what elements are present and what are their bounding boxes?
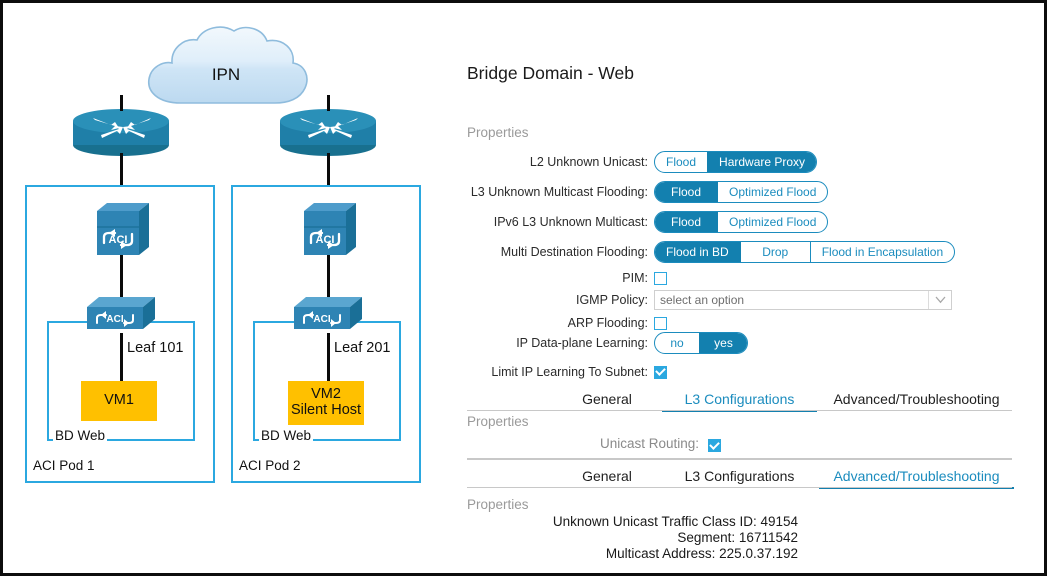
label-limit-ip-learning-to-subnet: Limit IP Learning To Subnet: bbox=[458, 361, 648, 383]
link-spine2-leaf2 bbox=[327, 255, 330, 297]
select-igmp-policy-value: select an option bbox=[655, 293, 928, 307]
toggle-option-flood-in-bd[interactable]: Flood in BD bbox=[655, 242, 740, 262]
tab-general-2-label: General bbox=[582, 468, 632, 484]
toggle-multi-destination-flooding[interactable]: Flood in BD Drop Flood in Encapsulation bbox=[654, 241, 955, 263]
label-l2-unknown-unicast: L2 Unknown Unicast: bbox=[458, 151, 648, 173]
checkbox-arp-flooding[interactable] bbox=[654, 317, 667, 330]
aci-pod-1-label: ACI Pod 1 bbox=[33, 458, 95, 473]
ipn-cloud-label: IPN bbox=[141, 65, 311, 85]
vm2-label: VM2 bbox=[311, 387, 341, 403]
properties-heading-advanced: Properties bbox=[467, 497, 529, 512]
row-ip-dataplane-learning: IP Data-plane Learning: no yes bbox=[458, 332, 1018, 354]
screenshot-frame: IPN bbox=[0, 0, 1047, 576]
label-arp-flooding: ARP Flooding: bbox=[458, 312, 648, 334]
toggle-option-flood[interactable]: Flood bbox=[655, 212, 717, 232]
row-multi-destination-flooding: Multi Destination Flooding: Flood in BD … bbox=[458, 241, 1018, 263]
tab-general-2[interactable]: General bbox=[552, 468, 662, 484]
label-l3-unknown-multicast-flooding: L3 Unknown Multicast Flooding: bbox=[458, 181, 648, 203]
segment-value: Segment: 16711542 bbox=[458, 530, 798, 545]
tab-advanced-troubleshooting-2-label: Advanced/Troubleshooting bbox=[833, 468, 999, 484]
row-igmp-policy: IGMP Policy: select an option bbox=[458, 289, 1018, 311]
svg-text:ACI: ACI bbox=[106, 314, 123, 325]
svg-text:ACI: ACI bbox=[313, 314, 330, 325]
row-ipv6-l3-unknown-multicast: IPv6 L3 Unknown Multicast: Flood Optimiz… bbox=[458, 211, 1018, 233]
tab-l3-configurations[interactable]: L3 Configurations bbox=[662, 391, 817, 407]
unknown-unicast-traffic-class-id: Unknown Unicast Traffic Class ID: 49154 bbox=[458, 514, 798, 529]
tabbar-rule bbox=[467, 487, 1012, 489]
spine-switch-pod2: ACI bbox=[298, 201, 358, 257]
row-pim: PIM: bbox=[458, 267, 1018, 289]
aci-pod-2-label: ACI Pod 2 bbox=[239, 458, 301, 473]
aci-multipod-diagram: IPN bbox=[3, 3, 455, 573]
properties-heading-main: Properties bbox=[467, 125, 529, 140]
toggle-l2-unknown-unicast[interactable]: Flood Hardware Proxy bbox=[654, 151, 817, 173]
label-multi-destination-flooding: Multi Destination Flooding: bbox=[458, 241, 648, 263]
toggle-option-yes[interactable]: yes bbox=[699, 333, 747, 353]
chevron-down-icon[interactable] bbox=[928, 291, 951, 309]
checkbox-unicast-routing[interactable] bbox=[708, 439, 721, 452]
toggle-option-optimized-flood[interactable]: Optimized Flood bbox=[717, 182, 827, 202]
tabbar-l3-configurations: General L3 Configurations Advanced/Troub… bbox=[467, 381, 1012, 411]
ipn-cloud: IPN bbox=[141, 25, 311, 107]
toggle-option-flood-in-encapsulation[interactable]: Flood in Encapsulation bbox=[810, 242, 954, 262]
label-unicast-routing: Unicast Routing: bbox=[600, 436, 699, 451]
vm1-box: VM1 bbox=[81, 381, 157, 421]
bd-web-pod1-label: BD Web bbox=[53, 428, 107, 443]
vm1-label: VM1 bbox=[104, 393, 134, 409]
leaf-101-label: Leaf 101 bbox=[127, 340, 183, 356]
toggle-option-optimized-flood[interactable]: Optimized Flood bbox=[717, 212, 827, 232]
toggle-option-hardware-proxy[interactable]: Hardware Proxy bbox=[707, 152, 816, 172]
leaf-switch-101: ACI bbox=[83, 293, 159, 337]
router-pod2 bbox=[278, 107, 378, 157]
tab-general[interactable]: General bbox=[552, 391, 662, 407]
svg-text:ACI: ACI bbox=[316, 234, 335, 246]
toggle-option-no[interactable]: no bbox=[655, 333, 699, 353]
row-limit-ip-learning-to-subnet: Limit IP Learning To Subnet: bbox=[458, 361, 1018, 383]
properties-heading-l3: Properties bbox=[467, 414, 529, 429]
page-title: Bridge Domain - Web bbox=[467, 63, 634, 84]
row-arp-flooding: ARP Flooding: bbox=[458, 312, 1018, 334]
row-l3-unknown-multicast-flooding: L3 Unknown Multicast Flooding: Flood Opt… bbox=[458, 181, 1018, 203]
tab-advanced-troubleshooting[interactable]: Advanced/Troubleshooting bbox=[819, 391, 1014, 407]
select-igmp-policy[interactable]: select an option bbox=[654, 290, 952, 310]
label-ip-dataplane-learning: IP Data-plane Learning: bbox=[458, 332, 648, 354]
link-spine1-leaf1 bbox=[120, 255, 123, 297]
link-leaf1-vm1 bbox=[120, 333, 123, 383]
link-cloud-router1 bbox=[120, 95, 123, 111]
bd-web-pod2-label: BD Web bbox=[259, 428, 313, 443]
toggle-option-flood[interactable]: Flood bbox=[655, 152, 707, 172]
link-leaf2-vm2 bbox=[327, 333, 330, 383]
toggle-ipv6-l3-unknown-multicast[interactable]: Flood Optimized Flood bbox=[654, 211, 828, 233]
leaf-201-label: Leaf 201 bbox=[334, 340, 390, 356]
checkbox-pim[interactable] bbox=[654, 272, 667, 285]
link-cloud-router2 bbox=[327, 95, 330, 111]
vm2-box: VM2 Silent Host bbox=[288, 381, 364, 425]
router-pod1 bbox=[71, 107, 171, 157]
tabbar-advanced-troubleshooting: General L3 Configurations Advanced/Troub… bbox=[467, 458, 1012, 488]
tab-advanced-troubleshooting-label: Advanced/Troubleshooting bbox=[833, 391, 999, 407]
spine-switch-pod1: ACI bbox=[91, 201, 151, 257]
toggle-option-drop[interactable]: Drop bbox=[740, 242, 810, 262]
vm2-sublabel: Silent Host bbox=[291, 403, 361, 419]
tab-general-label: General bbox=[582, 391, 632, 407]
label-igmp-policy: IGMP Policy: bbox=[458, 289, 648, 311]
label-ipv6-l3-unknown-multicast: IPv6 L3 Unknown Multicast: bbox=[458, 211, 648, 233]
leaf-switch-201: ACI bbox=[290, 293, 366, 337]
tab-l3-configurations-label: L3 Configurations bbox=[685, 391, 795, 407]
toggle-option-flood[interactable]: Flood bbox=[655, 182, 717, 202]
multicast-address-value: Multicast Address: 225.0.37.192 bbox=[458, 546, 798, 561]
bridge-domain-properties-panel: Bridge Domain - Web Properties L2 Unknow… bbox=[458, 3, 1046, 573]
tab-advanced-troubleshooting-2[interactable]: Advanced/Troubleshooting bbox=[819, 468, 1014, 484]
tab-l3-configurations-2[interactable]: L3 Configurations bbox=[662, 468, 817, 484]
tab-l3-configurations-2-label: L3 Configurations bbox=[685, 468, 795, 484]
row-l2-unknown-unicast: L2 Unknown Unicast: Flood Hardware Proxy bbox=[458, 151, 1018, 173]
toggle-ip-dataplane-learning[interactable]: no yes bbox=[654, 332, 748, 354]
toggle-l3-unknown-multicast-flooding[interactable]: Flood Optimized Flood bbox=[654, 181, 828, 203]
label-pim: PIM: bbox=[458, 267, 648, 289]
svg-text:ACI: ACI bbox=[109, 234, 128, 246]
tabbar-rule bbox=[467, 410, 1012, 412]
checkbox-limit-ip-learning-to-subnet[interactable] bbox=[654, 366, 667, 379]
